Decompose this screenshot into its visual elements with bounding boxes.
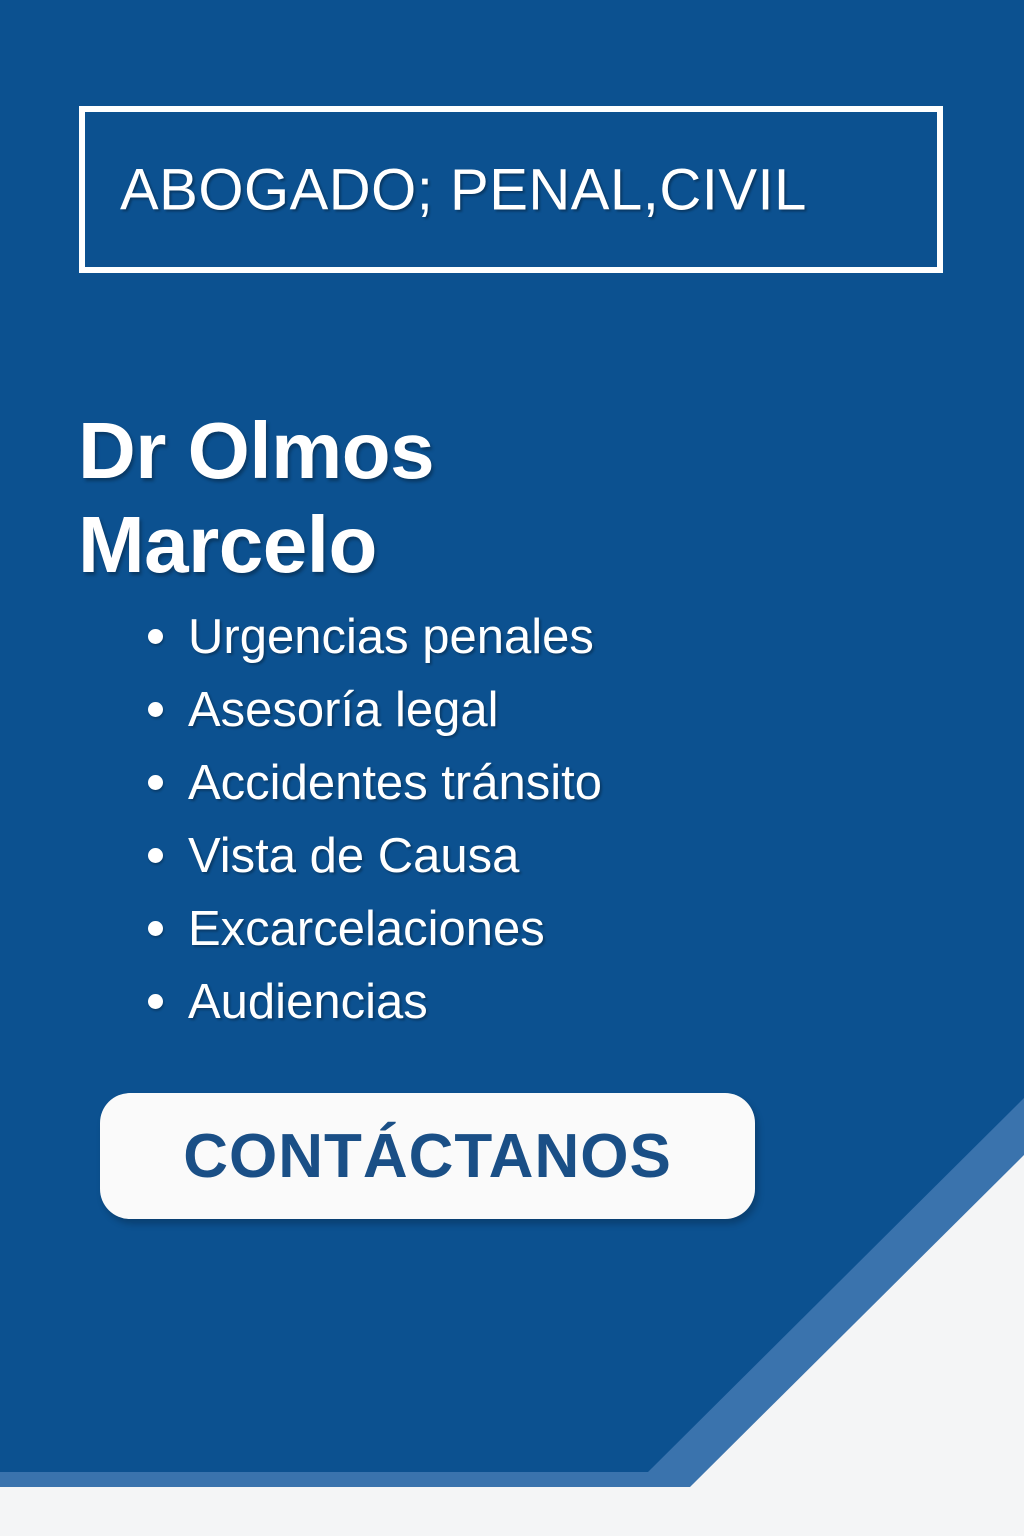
- list-item: Accidentes tránsito: [148, 746, 602, 819]
- service-label: Asesoría legal: [188, 682, 499, 738]
- list-item: Audiencias: [148, 965, 602, 1038]
- service-label: Excarcelaciones: [188, 901, 545, 957]
- page-title: ABOGADO; PENAL,CIVIL: [120, 156, 807, 223]
- service-label: Audiencias: [188, 974, 428, 1030]
- attorney-name-line-1: Dr Olmos: [78, 404, 434, 498]
- bullet-icon: [148, 848, 163, 863]
- contact-button-label: CONTÁCTANOS: [183, 1121, 672, 1192]
- bullet-icon: [148, 702, 163, 717]
- service-label: Accidentes tránsito: [188, 755, 602, 811]
- contact-button[interactable]: CONTÁCTANOS: [100, 1093, 755, 1219]
- list-item: Urgencias penales: [148, 600, 602, 673]
- service-label: Urgencias penales: [188, 609, 594, 665]
- list-item: Vista de Causa: [148, 819, 602, 892]
- services-list: Urgencias penales Asesoría legal Acciden…: [148, 600, 602, 1038]
- title-frame: ABOGADO; PENAL,CIVIL: [79, 106, 943, 273]
- bullet-icon: [148, 629, 163, 644]
- attorney-name: Dr Olmos Marcelo: [78, 404, 434, 592]
- poster-canvas: ABOGADO; PENAL,CIVIL Dr Olmos Marcelo Ur…: [0, 0, 1024, 1536]
- attorney-name-line-2: Marcelo: [78, 498, 434, 592]
- list-item: Asesoría legal: [148, 673, 602, 746]
- service-label: Vista de Causa: [188, 828, 519, 884]
- list-item: Excarcelaciones: [148, 892, 602, 965]
- bullet-icon: [148, 994, 163, 1009]
- bullet-icon: [148, 775, 163, 790]
- bullet-icon: [148, 921, 163, 936]
